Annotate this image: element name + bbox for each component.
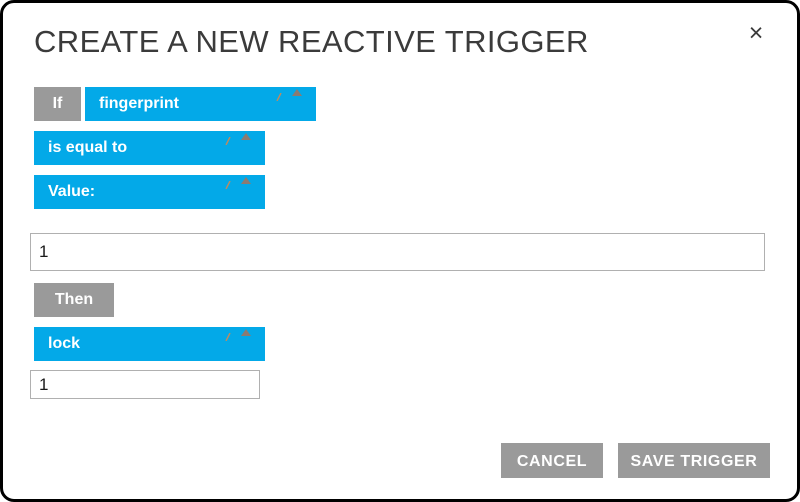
action-then-row: Then [3, 283, 797, 317]
condition-value-label: Value: [48, 183, 95, 200]
condition-operator-value: is equal to [48, 139, 127, 156]
create-reactive-trigger-dialog: CREATE A NEW REACTIVE TRIGGER × If finge… [0, 0, 800, 502]
condition-subject-select[interactable]: fingerprint [85, 87, 316, 121]
if-label: If [34, 87, 81, 121]
condition-operator-row: is equal to [3, 131, 797, 165]
dialog-header: CREATE A NEW REACTIVE TRIGGER × [3, 3, 797, 81]
condition-subject-row: If fingerprint [3, 87, 797, 121]
dialog-footer: CANCEL SAVE TRIGGER [3, 429, 797, 499]
page-title: CREATE A NEW REACTIVE TRIGGER [34, 24, 589, 60]
close-icon[interactable]: × [743, 20, 769, 46]
condition-value-select[interactable]: Value: [34, 175, 265, 209]
condition-value-label-row: Value: [3, 175, 797, 209]
action-value-input[interactable] [30, 370, 260, 399]
action-select[interactable]: lock [34, 327, 265, 361]
condition-value-input[interactable] [30, 233, 765, 271]
then-label: Then [34, 283, 114, 317]
cancel-button[interactable]: CANCEL [501, 443, 603, 478]
save-trigger-button[interactable]: SAVE TRIGGER [618, 443, 770, 478]
action-select-row: lock [3, 327, 797, 361]
action-value: lock [48, 335, 80, 352]
condition-operator-select[interactable]: is equal to [34, 131, 265, 165]
condition-subject-value: fingerprint [99, 95, 179, 112]
